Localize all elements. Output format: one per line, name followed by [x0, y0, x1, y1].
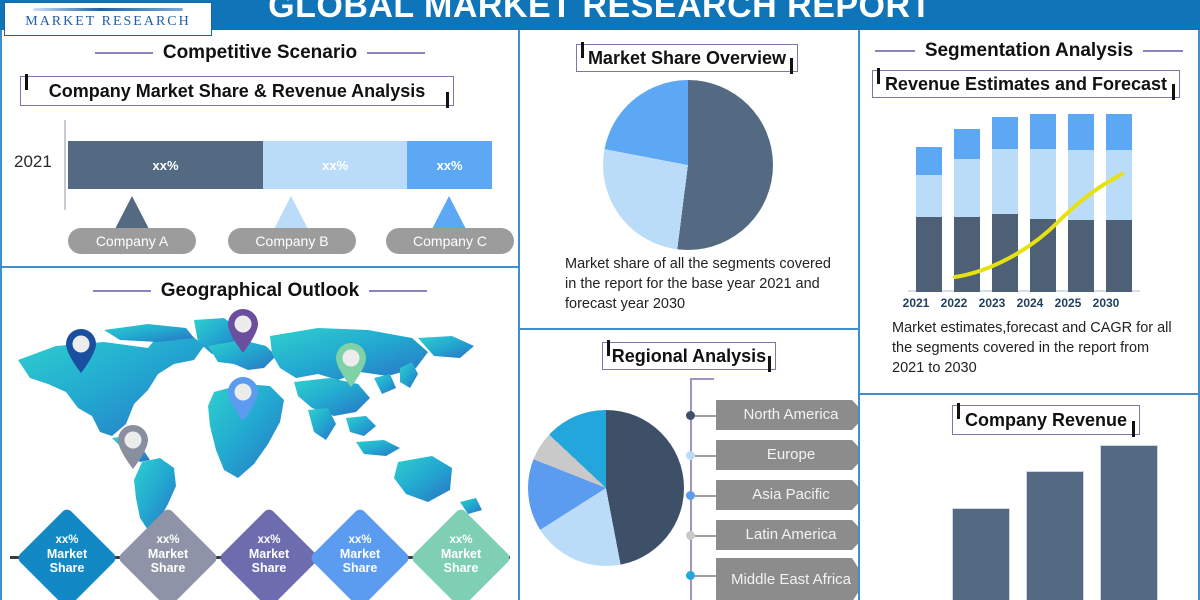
legend-banner-north-america[interactable]: North America [716, 400, 858, 430]
legend-banner-latin-america[interactable]: Latin America [716, 520, 858, 550]
legend-pill-company-c[interactable]: Company C [386, 228, 514, 254]
bar-segment-a-value: xx% [153, 158, 179, 173]
regional-spine-top-stub [690, 378, 714, 380]
axis-label-2025: 2025 [1048, 296, 1088, 310]
geographical-outlook-panel: Geographical Outlook [2, 268, 518, 600]
legend-stub-europe [695, 455, 719, 457]
world-map[interactable] [8, 312, 512, 532]
map-pin-south-america-icon[interactable] [116, 424, 150, 470]
segmentation-subtitle-box: Revenue Estimates and Forecast [872, 70, 1180, 98]
map-pin-europe-icon[interactable] [226, 308, 260, 354]
legend-dot-europe [686, 451, 695, 460]
brand-logo: MARKET RESEARCH [4, 2, 212, 36]
title-rule-right-icon [367, 52, 425, 54]
diamond-region-5-label: xx% Market Share [413, 533, 509, 575]
market-share-stacked-bar: xx% xx% xx% [68, 141, 492, 189]
legend-pill-company-b[interactable]: Company B [228, 228, 356, 254]
regional-analysis-panel: Regional Analysis North America Europe A… [520, 330, 858, 600]
legend-pill-company-a[interactable]: Company A [68, 228, 196, 254]
title-rule-left-icon [95, 52, 153, 54]
competitive-subtitle-box: Company Market Share & Revenue Analysis [20, 76, 454, 106]
legend-stub-north-america [695, 415, 719, 417]
market-share-overview-panel: Market Share Overview Market share of al… [520, 32, 858, 326]
axis-label-2023: 2023 [972, 296, 1012, 310]
company-revenue-title-box: Company Revenue [952, 405, 1140, 435]
competitive-scenario-panel: Competitive Scenario Company Market Shar… [2, 32, 518, 266]
market-share-title-box: Market Share Overview [576, 44, 798, 72]
bar-segment-company-b[interactable]: xx% [263, 141, 407, 189]
bar-segment-company-a[interactable]: xx% [68, 141, 263, 189]
competitive-subtitle: Company Market Share & Revenue Analysis [49, 81, 425, 102]
competitive-scenario-title: Competitive Scenario [2, 42, 518, 64]
segmentation-caption: Market estimates,forecast and CAGR for a… [892, 318, 1184, 378]
company-revenue-panel: Company Revenue [860, 395, 1198, 600]
bar-segment-b-value: xx% [322, 158, 348, 173]
company-revenue-bar-2[interactable] [1026, 471, 1084, 600]
market-share-title: Market Share Overview [588, 48, 786, 69]
pointer-triangle-c-icon [432, 196, 466, 229]
legend-dot-middle-east-africa [686, 571, 695, 580]
title-rule-right-icon [369, 290, 427, 292]
diamond-region-2-label: xx% Market Share [120, 533, 216, 575]
map-pin-asia-pacific-icon[interactable] [334, 342, 368, 388]
axis-label-2024: 2024 [1010, 296, 1050, 310]
legend-dot-north-america [686, 411, 695, 420]
logo-text: MARKET RESEARCH [25, 14, 190, 30]
company-revenue-bar-1[interactable] [952, 508, 1010, 600]
regional-pie-chart[interactable] [528, 410, 684, 566]
diamond-region-3-label: xx% Market Share [221, 533, 317, 575]
title-rule-left-icon [93, 290, 151, 292]
axis-label-2022: 2022 [934, 296, 974, 310]
company-revenue-bar-3[interactable] [1100, 445, 1158, 600]
market-share-pie-chart[interactable] [603, 80, 773, 250]
diamond-region-1-label: xx% Market Share [19, 533, 115, 575]
chart-axis-line [64, 120, 66, 210]
legend-banner-asia-pacific[interactable]: Asia Pacific [716, 480, 858, 510]
segmentation-analysis-title: Segmentation Analysis [860, 40, 1198, 62]
regional-analysis-title: Regional Analysis [612, 346, 766, 367]
legend-banner-middle-east-africa[interactable]: Middle East Africa [716, 558, 858, 600]
company-revenue-title: Company Revenue [965, 410, 1127, 431]
pointer-triangle-a-icon [115, 196, 149, 229]
bar-year-label: 2021 [14, 152, 52, 172]
report-infographic: GLOBAL MARKET RESEARCH REPORT MARKET RES… [0, 0, 1200, 600]
bar-segment-c-value: xx% [437, 158, 463, 173]
map-pin-middle-east-africa-icon[interactable] [226, 376, 260, 422]
legend-stub-latin-america [695, 535, 719, 537]
title-rule-left-icon [875, 50, 915, 52]
segmentation-analysis-panel: Segmentation Analysis Revenue Estimates … [860, 32, 1198, 391]
pointer-triangle-b-icon [274, 196, 308, 229]
logo-swoosh-icon [33, 8, 183, 11]
bar-segment-company-c[interactable]: xx% [407, 141, 492, 189]
market-share-caption: Market share of all the segments covered… [565, 254, 835, 314]
legend-dot-latin-america [686, 531, 695, 540]
diamond-region-4-label: xx% Market Share [312, 533, 408, 575]
revenue-forecast-chart[interactable] [908, 112, 1148, 292]
cagr-trend-line-icon [908, 112, 1148, 292]
title-rule-right-icon [1143, 50, 1183, 52]
map-pin-north-america-icon[interactable] [64, 328, 98, 374]
legend-dot-asia-pacific [686, 491, 695, 500]
legend-banner-europe[interactable]: Europe [716, 440, 858, 470]
legend-stub-middle-east-africa [695, 575, 719, 577]
legend-stub-asia-pacific [695, 495, 719, 497]
axis-label-2030: 2030 [1086, 296, 1126, 310]
segmentation-subtitle: Revenue Estimates and Forecast [885, 74, 1167, 95]
regional-analysis-title-box: Regional Analysis [602, 342, 776, 370]
geographical-outlook-title: Geographical Outlook [2, 280, 518, 302]
axis-label-2021: 2021 [896, 296, 936, 310]
